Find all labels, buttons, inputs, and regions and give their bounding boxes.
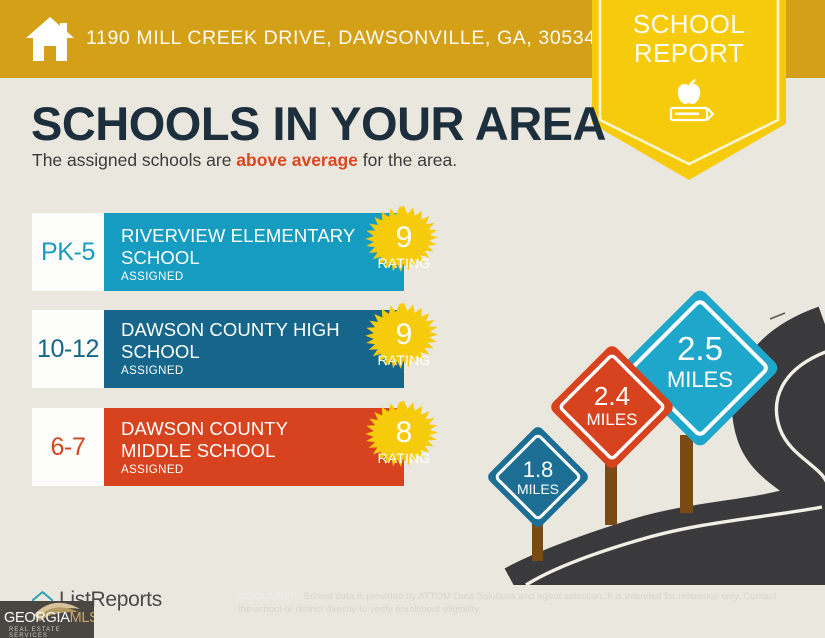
rating-score: 9 [356,319,452,351]
rating-score: 9 [356,222,452,254]
school-report-infographic: 1190 MILL CREEK DRIVE, DAWSONVILLE, GA, … [0,0,825,638]
sign-unit: MILES [517,481,559,497]
apple-on-book-icon [661,76,717,124]
mls-brand-secondary: MLS [70,610,94,626]
rating-starburst: 8 RATING [356,399,452,495]
rating-label: RATING [356,450,452,466]
school-report-badge: SCHOOL REPORT [592,0,786,180]
sign-unit: MILES [586,410,637,429]
sign-distance: 1.8 [523,457,554,482]
school-row[interactable]: 6-7 DAWSON COUNTY MIDDLE SCHOOL ASSIGNED [32,408,404,486]
school-row[interactable]: PK-5 RIVERVIEW ELEMENTARY SCHOOL ASSIGNE… [32,213,404,291]
badge-title-line2: REPORT [592,39,786,68]
grade-range: 6-7 [51,433,86,462]
badge-title-line1: SCHOOL [592,10,786,39]
disclaimer-label: DISCLAIMER: [238,591,301,602]
georgia-mls-logo[interactable]: GEORGIAMLS REAL ESTATE SERVICES [0,601,94,638]
rating-score: 8 [356,417,452,449]
grade-range-box: 6-7 [32,408,104,486]
page-subtitle: The assigned schools are above average f… [32,150,457,171]
page-title: SCHOOLS IN YOUR AREA [31,96,606,152]
mls-brand-primary: GEORGIA [4,610,70,626]
road-scene-illustration: 2.5 MILES 2.4 MILES 1.8 MILES [470,255,825,585]
sign-unit: MILES [667,367,733,392]
grade-range-box: 10-12 [32,310,104,388]
subtitle-accent: above average [236,150,358,170]
grade-range: 10-12 [37,335,99,364]
subtitle-after: for the area. [358,150,457,170]
subtitle-before: The assigned schools are [32,150,236,170]
school-name: DAWSON COUNTY HIGH SCHOOL [121,319,361,363]
rating-label: RATING [356,255,452,271]
school-row[interactable]: 10-12 DAWSON COUNTY HIGH SCHOOL ASSIGNED [32,310,404,388]
grade-range-box: PK-5 [32,213,104,291]
school-name: RIVERVIEW ELEMENTARY SCHOOL [121,222,361,269]
sign-distance: 2.4 [594,381,630,411]
rating-label: RATING [356,352,452,368]
property-address: 1190 MILL CREEK DRIVE, DAWSONVILLE, GA, … [86,27,596,50]
school-name: DAWSON COUNTY MIDDLE SCHOOL [121,417,361,462]
rating-starburst: 9 RATING [356,301,452,397]
sign-distance: 2.5 [677,330,723,367]
rating-starburst: 9 RATING [356,204,452,300]
disclaimer-text: DISCLAIMER: School data is provided by A… [238,591,783,616]
house-icon [24,14,76,64]
sign-post [680,435,693,513]
badge-title: SCHOOL REPORT [592,10,786,68]
mls-tagline: REAL ESTATE SERVICES [9,627,94,638]
grade-range: PK-5 [41,238,95,267]
sign-wire [770,313,785,319]
disclaimer-body: School data is provided by ATTOM Data So… [238,591,777,615]
mls-brand-name: GEORGIAMLS [4,610,94,626]
